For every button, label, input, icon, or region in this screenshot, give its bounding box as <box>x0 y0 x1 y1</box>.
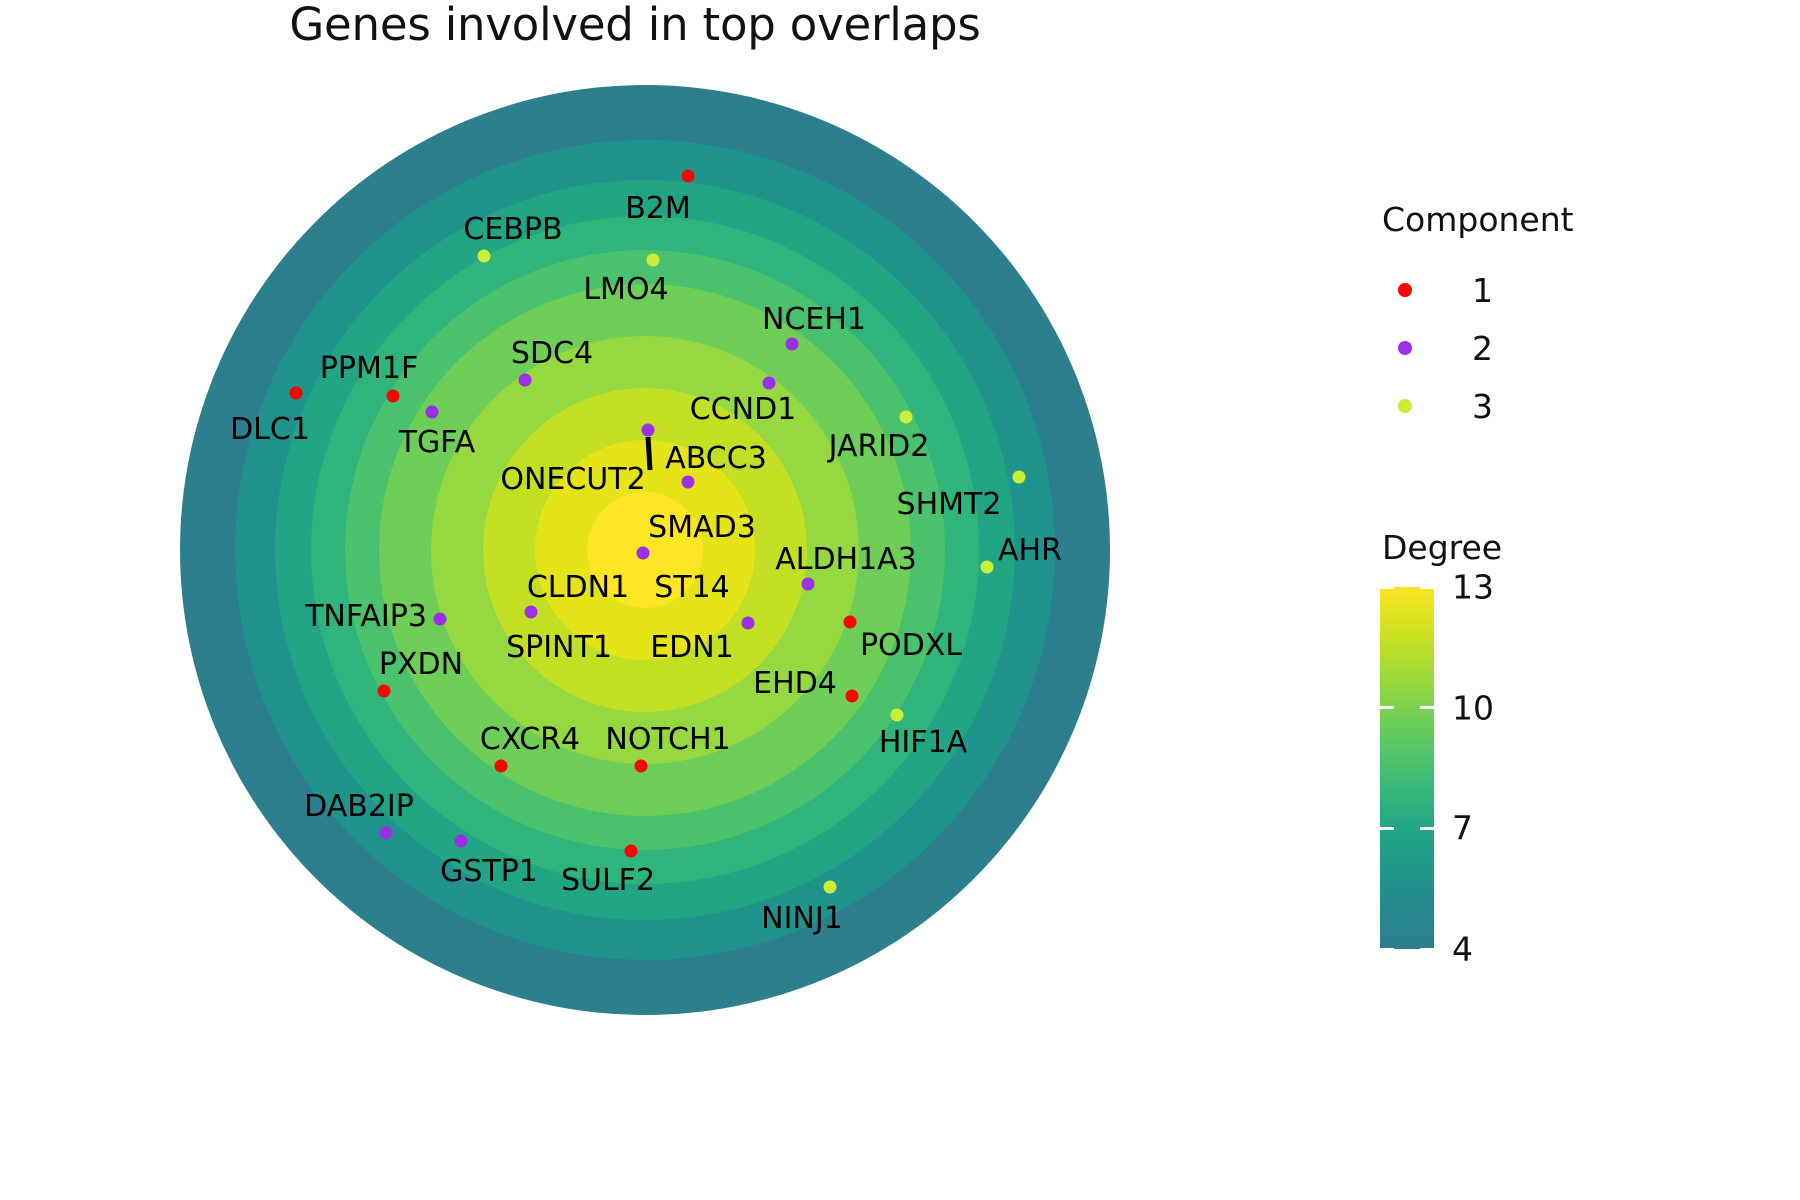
degree-colorbar-wrap: 131074 <box>1380 579 1680 954</box>
gene-point-hif1a[interactable] <box>891 709 904 722</box>
degree-tick-label-13: 13 <box>1452 568 1494 607</box>
gene-point-nceh1[interactable] <box>786 338 799 351</box>
degree-tick-mark-4 <box>1420 948 1434 951</box>
gene-point-onecut2[interactable] <box>642 424 655 437</box>
label-leader-lines <box>0 0 1270 1200</box>
gene-point-st14[interactable] <box>742 617 755 630</box>
legend-swatch-1 <box>1398 283 1412 297</box>
gene-label-abcc3: ABCC3 <box>665 444 767 474</box>
legend-component-item-2[interactable]: 2 <box>1380 319 1680 377</box>
degree-tick-mark-7 <box>1420 827 1434 830</box>
gene-point-aldh1a3[interactable] <box>802 578 815 591</box>
gene-label-dlc1: DLC1 <box>230 415 310 445</box>
degree-tick-mark-10 <box>1380 706 1394 709</box>
gene-label-aldh1a3: ALDH1A3 <box>775 545 917 575</box>
gene-point-cxcr4[interactable] <box>495 760 508 773</box>
gene-point-ccnd1[interactable] <box>763 377 776 390</box>
gene-label-jarid2: JARID2 <box>829 432 930 462</box>
leader-line-onecut2 <box>648 437 650 470</box>
legend-degree: Degree 131074 <box>1380 528 1700 954</box>
degree-tick-mark-7 <box>1380 827 1394 830</box>
gene-label-tgfa: TGFA <box>399 428 476 458</box>
gene-point-ppm1f[interactable] <box>387 390 400 403</box>
gene-point-smad3[interactable] <box>637 547 650 560</box>
gene-label-onecut2: ONECUT2 <box>500 465 645 495</box>
gene-label-ccnd1: CCND1 <box>690 395 797 425</box>
gene-point-ehd4[interactable] <box>846 690 859 703</box>
gene-point-pxdn[interactable] <box>378 685 391 698</box>
gene-label-tnfaip3: TNFAIP3 <box>305 602 427 632</box>
gene-point-shmt2[interactable] <box>1013 471 1026 484</box>
degree-tick-label-4: 4 <box>1452 930 1473 969</box>
gene-label-cldn1: CLDN1 <box>527 573 629 603</box>
gene-label-nceh1: NCEH1 <box>762 305 866 335</box>
gene-label-b2m: B2M <box>625 194 691 224</box>
gene-label-spint1: SPINT1 <box>506 633 612 663</box>
degree-tick-label-7: 7 <box>1452 809 1473 848</box>
gene-label-hif1a: HIF1A <box>879 728 967 758</box>
gene-label-sulf2: SULF2 <box>561 866 655 896</box>
gene-label-pxdn: PXDN <box>379 650 463 680</box>
gene-point-dab2ip[interactable] <box>380 827 393 840</box>
gene-label-shmt2: SHMT2 <box>897 490 1002 520</box>
gene-point-gstp1[interactable] <box>455 835 468 848</box>
gene-label-ninj1: NINJ1 <box>761 904 843 934</box>
chart-root: Genes involved in top overlaps B2MCEBPBL… <box>0 0 1800 1200</box>
gene-label-ppm1f: PPM1F <box>320 354 418 384</box>
gene-point-tnfaip3[interactable] <box>434 613 447 626</box>
legend-component: Component 123 <box>1380 200 1680 435</box>
gene-point-podxl[interactable] <box>844 616 857 629</box>
degree-colorbar <box>1380 587 1434 949</box>
degree-tick-mark-10 <box>1420 706 1434 709</box>
gene-label-notch1: NOTCH1 <box>605 725 730 755</box>
gene-label-ahr: AHR <box>998 536 1062 566</box>
gene-point-ahr[interactable] <box>981 561 994 574</box>
gene-label-sdc4: SDC4 <box>511 339 593 369</box>
legend-component-item-1[interactable]: 1 <box>1380 261 1680 319</box>
gene-point-cldn1[interactable] <box>525 606 538 619</box>
gene-point-abcc3[interactable] <box>682 476 695 489</box>
gene-label-st14: ST14 <box>654 573 730 603</box>
plot-area: B2MCEBPBLMO4NCEH1SDC4PPM1FCCND1DLC1TGFAJ… <box>0 0 1270 1200</box>
gene-label-podxl: PODXL <box>860 631 962 661</box>
gene-point-tgfa[interactable] <box>426 406 439 419</box>
gene-label-smad3: SMAD3 <box>648 513 756 543</box>
gene-point-notch1[interactable] <box>635 760 648 773</box>
gene-label-dab2ip: DAB2IP <box>304 792 414 822</box>
gene-point-cebpb[interactable] <box>478 250 491 263</box>
legend-label-2: 2 <box>1472 329 1493 368</box>
degree-tick-label-10: 10 <box>1452 688 1494 727</box>
legend-degree-title: Degree <box>1382 528 1700 567</box>
gene-label-ehd4: EHD4 <box>753 669 837 699</box>
legend-component-items: 123 <box>1380 261 1680 435</box>
gene-point-b2m[interactable] <box>682 170 695 183</box>
degree-tick-mark-4 <box>1380 948 1394 951</box>
legend-component-item-3[interactable]: 3 <box>1380 377 1680 435</box>
gene-point-jarid2[interactable] <box>900 411 913 424</box>
gene-point-sdc4[interactable] <box>519 374 532 387</box>
legend-label-1: 1 <box>1472 271 1493 310</box>
gene-label-cebpb: CEBPB <box>463 215 562 245</box>
gene-label-gstp1: GSTP1 <box>440 857 538 887</box>
legend-swatch-2 <box>1398 341 1412 355</box>
gene-point-ninj1[interactable] <box>824 881 837 894</box>
degree-tick-mark-13 <box>1380 586 1394 589</box>
gene-point-lmo4[interactable] <box>647 254 660 267</box>
gene-label-cxcr4: CXCR4 <box>480 725 580 755</box>
gene-point-dlc1[interactable] <box>290 387 303 400</box>
degree-tick-mark-13 <box>1420 586 1434 589</box>
legend-swatch-3 <box>1398 399 1412 413</box>
gene-label-edn1: EDN1 <box>650 633 734 663</box>
legend-label-3: 3 <box>1472 387 1493 426</box>
gene-label-lmo4: LMO4 <box>583 275 668 305</box>
legend-component-title: Component <box>1382 200 1680 239</box>
gene-point-sulf2[interactable] <box>625 845 638 858</box>
